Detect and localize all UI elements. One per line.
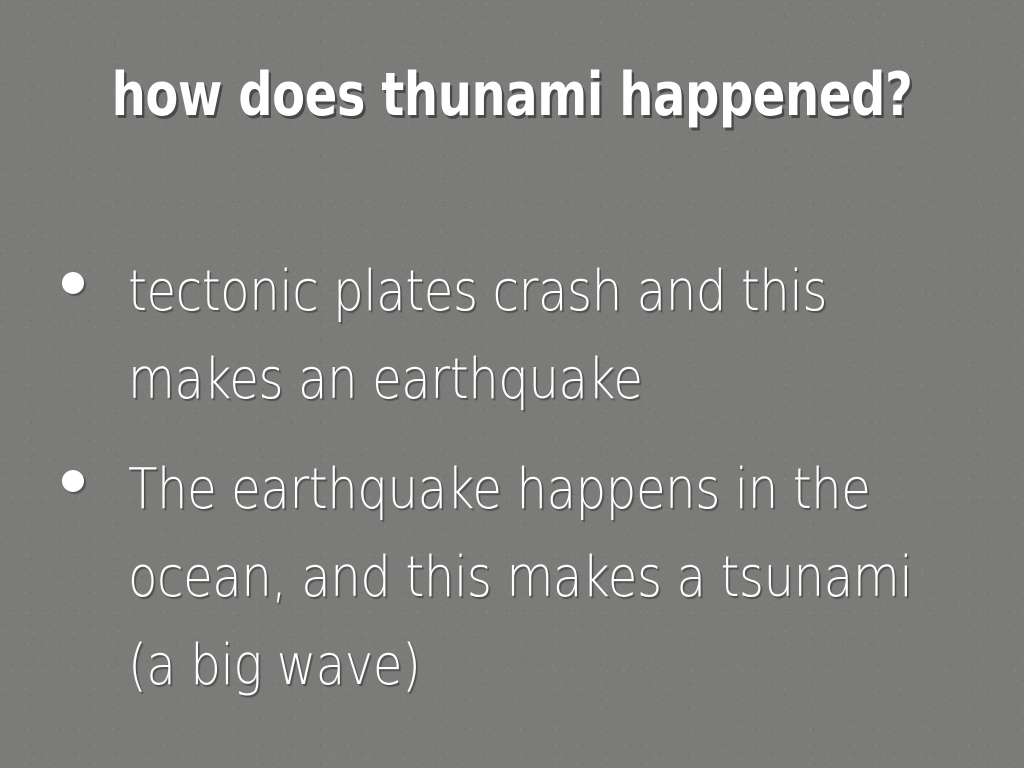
bullet-dot-icon <box>62 470 84 492</box>
list-item: The earthquake happens in the ocean, and… <box>56 446 956 710</box>
page-title: how does thunami happened? <box>102 62 921 128</box>
bullet-list: tectonic plates crash and this makes an … <box>56 248 956 710</box>
list-item-label: tectonic plates crash and this makes an … <box>128 248 954 424</box>
presentation-slide: how does thunami happened? tectonic plat… <box>0 0 1024 768</box>
bullet-dot-icon <box>62 272 84 294</box>
list-item-label: The earthquake happens in the ocean, and… <box>128 446 954 710</box>
list-item: tectonic plates crash and this makes an … <box>56 248 956 424</box>
